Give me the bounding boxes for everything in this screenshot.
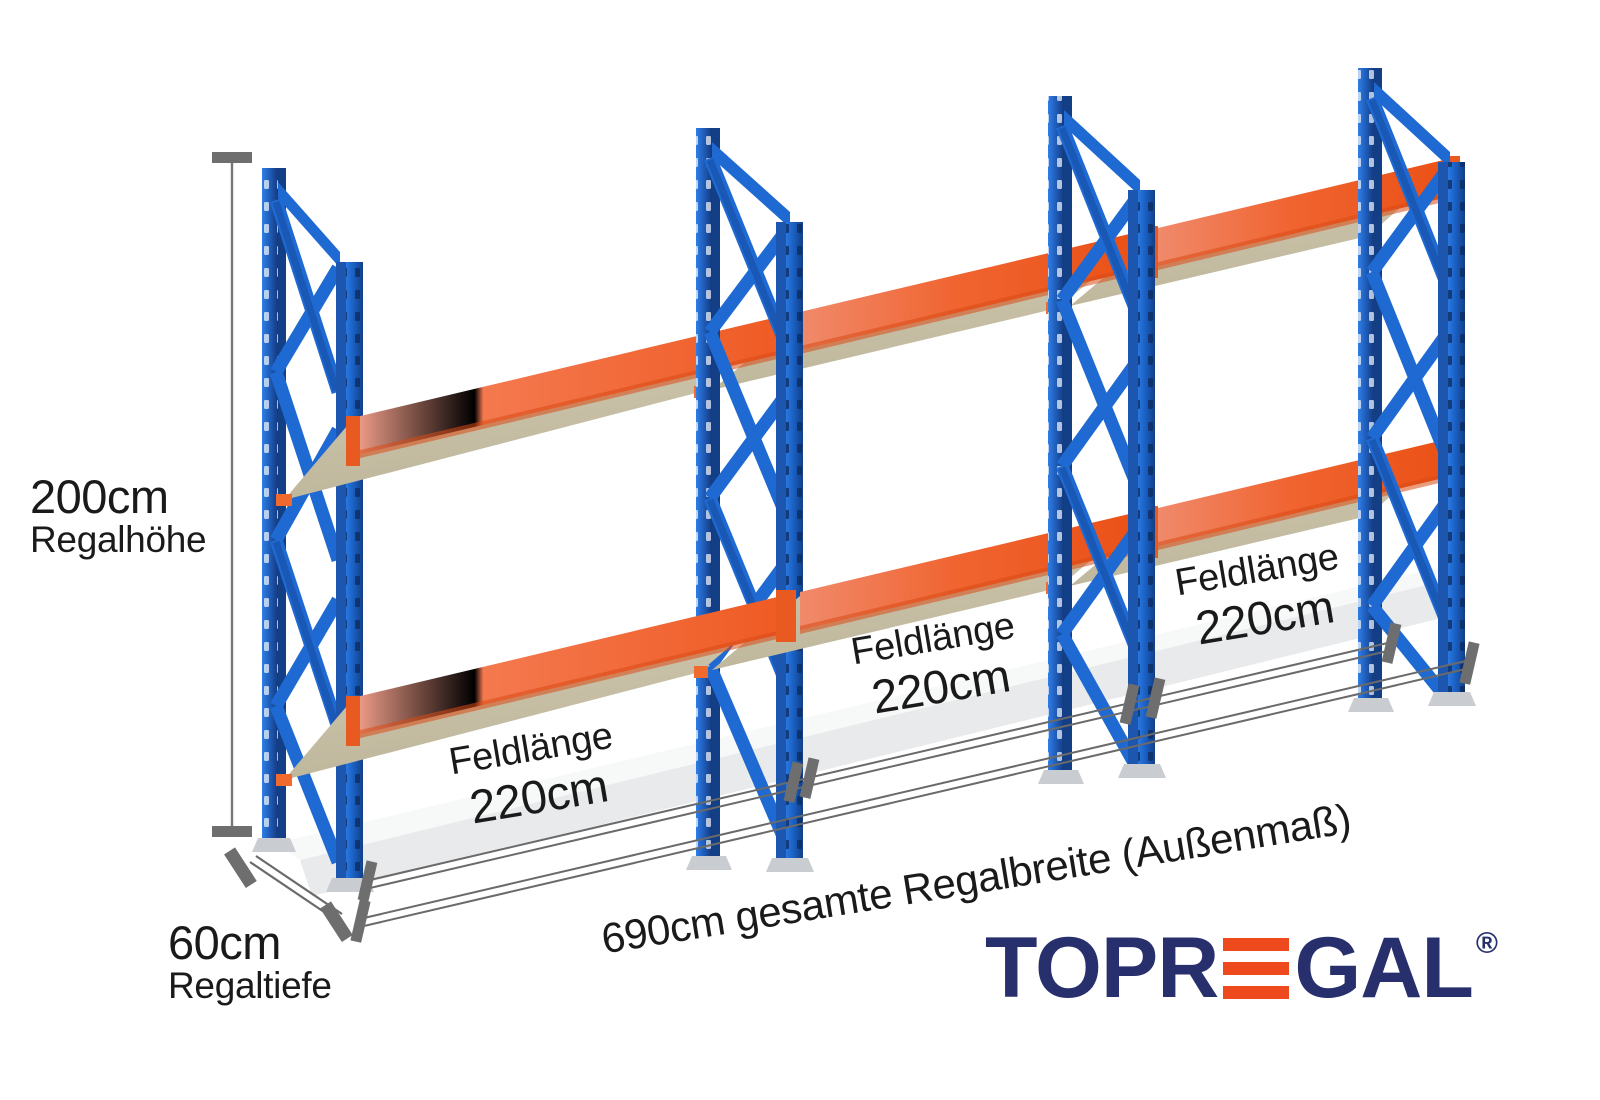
height-dimension-label: 200cm Regalhöhe <box>30 472 206 560</box>
height-value: 200cm <box>30 472 206 521</box>
logo-text-part2: GAL <box>1294 925 1473 1011</box>
depth-dimension-label: 60cm Regaltiefe <box>168 918 332 1006</box>
dim-tick-top <box>212 152 252 163</box>
shelf-level-upper <box>276 156 1460 506</box>
registered-trademark-symbol: ® <box>1476 927 1498 961</box>
frame-2 <box>686 128 814 872</box>
diagram-canvas: 200cm Regalhöhe 60cm Regaltiefe Feldläng… <box>0 0 1600 1100</box>
dim-tick-bottom <box>212 826 252 837</box>
dim-tick-total-start <box>350 899 370 942</box>
logo-text-part1: TOPR <box>985 925 1218 1011</box>
dim-tick <box>224 847 257 888</box>
topregal-logo: TOPR GAL ® <box>985 925 1498 1011</box>
frame-1 <box>252 168 374 892</box>
depth-caption: Regaltiefe <box>168 967 332 1006</box>
height-caption: Regalhöhe <box>30 521 206 560</box>
depth-value: 60cm <box>168 918 332 967</box>
e-bars-icon <box>1223 935 1289 1001</box>
dimension-height <box>212 152 252 837</box>
